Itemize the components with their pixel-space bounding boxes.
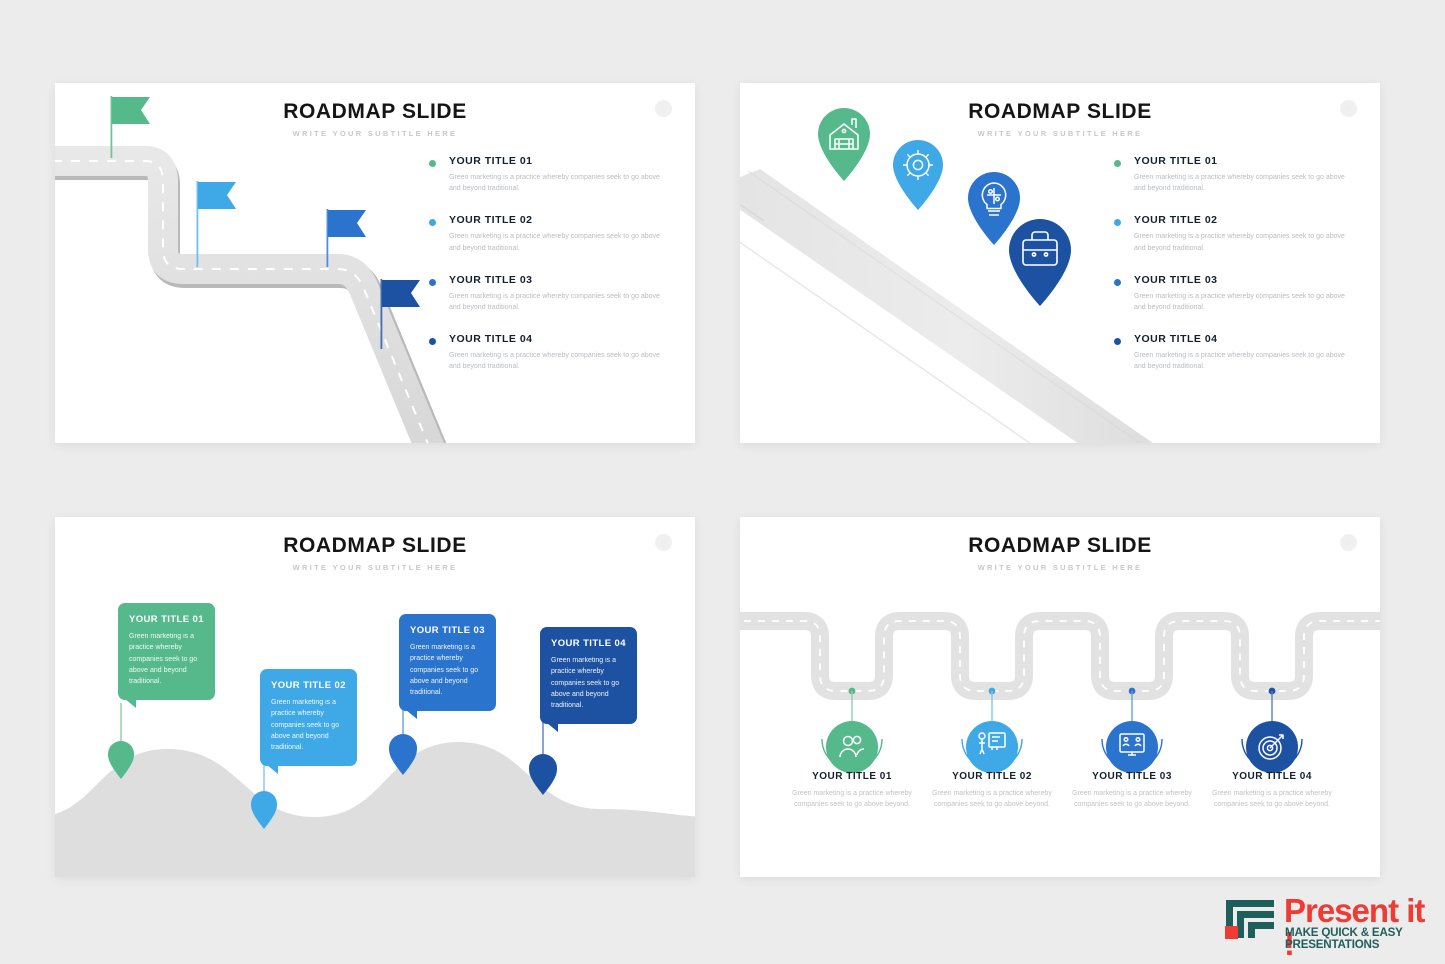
callout-title: YOUR TITLE 02 <box>271 680 346 691</box>
map-pin-2 <box>893 140 943 210</box>
item-body: Green marketing is a practice whereby co… <box>1057 788 1207 810</box>
list-item[interactable]: YOUR TITLE 03 Green marketing is a pract… <box>1112 274 1362 313</box>
callout-card-2[interactable]: YOUR TITLE 02 Green marketing is a pract… <box>260 669 357 766</box>
slide-2-diagonal-road[interactable]: ROADMAP SLIDE WRITE YOUR SUBTITLE HERE ◌ <box>740 83 1380 443</box>
bullet-dot-icon <box>429 160 436 167</box>
poster-canvas: ROADMAP SLIDE WRITE YOUR SUBTITLE HERE ◌ <box>0 0 1445 964</box>
slide-1-stepped-road[interactable]: ROADMAP SLIDE WRITE YOUR SUBTITLE HERE ◌ <box>55 83 695 443</box>
bullet-dot-icon <box>1114 160 1121 167</box>
callout-card-3[interactable]: YOUR TITLE 03 Green marketing is a pract… <box>399 614 496 711</box>
item-title: YOUR TITLE 02 <box>917 771 1067 782</box>
item-title: YOUR TITLE 04 <box>1134 333 1362 345</box>
bullet-dot-icon <box>429 279 436 286</box>
bullet-dot-icon <box>1114 219 1121 226</box>
stacked-bars-logo-icon <box>1222 896 1278 942</box>
connector-2 <box>989 688 996 721</box>
item-body: Green marketing is a practice whereby co… <box>1134 350 1352 372</box>
callout-title: YOUR TITLE 03 <box>410 625 485 636</box>
list-item[interactable]: YOUR TITLE 02 Green marketing is a pract… <box>1112 214 1362 253</box>
item-title: YOUR TITLE 02 <box>1134 214 1362 226</box>
slide-1-item-list: YOUR TITLE 01 Green marketing is a pract… <box>427 155 677 393</box>
callout-card-1[interactable]: YOUR TITLE 01 Green marketing is a pract… <box>118 603 215 700</box>
bullet-dot-icon <box>429 219 436 226</box>
bullet-dot-icon <box>429 338 436 345</box>
step-block-3[interactable]: YOUR TITLE 03 Green marketing is a pract… <box>1057 755 1207 810</box>
item-title: YOUR TITLE 01 <box>449 155 677 167</box>
callout-body: Green marketing is a practice whereby co… <box>271 697 346 754</box>
item-body: Green marketing is a practice whereby co… <box>917 788 1067 810</box>
callout-body: Green marketing is a practice whereby co… <box>410 642 485 699</box>
item-body: Green marketing is a practice whereby co… <box>777 788 927 810</box>
callout-tail <box>406 710 417 719</box>
brand-logo[interactable]: Present it ! MAKE QUICK & EASY PRESENTAT… <box>1222 896 1432 950</box>
step-block-1[interactable]: YOUR TITLE 01 Green marketing is a pract… <box>777 755 927 810</box>
item-title: YOUR TITLE 04 <box>449 333 677 345</box>
connector-4 <box>1269 688 1276 721</box>
callout-title: YOUR TITLE 04 <box>551 638 626 649</box>
item-title: YOUR TITLE 01 <box>777 771 927 782</box>
item-body: Green marketing is a practice whereby co… <box>449 172 667 194</box>
map-pin-4 <box>1009 219 1071 306</box>
bullet-dot-icon <box>1114 279 1121 286</box>
item-body: Green marketing is a practice whereby co… <box>1134 172 1352 194</box>
connector-3 <box>1129 688 1136 721</box>
square-wave-road-graphic <box>740 517 1380 877</box>
item-body: Green marketing is a practice whereby co… <box>1197 788 1347 810</box>
list-item[interactable]: YOUR TITLE 03 Green marketing is a pract… <box>427 274 677 313</box>
step-block-2[interactable]: YOUR TITLE 02 Green marketing is a pract… <box>917 755 1067 810</box>
item-title: YOUR TITLE 03 <box>449 274 677 286</box>
logo-tagline: MAKE QUICK & EASY PRESENTATIONS <box>1285 927 1432 950</box>
item-body: Green marketing is a practice whereby co… <box>449 350 667 372</box>
list-item[interactable]: YOUR TITLE 01 Green marketing is a pract… <box>427 155 677 194</box>
item-title: YOUR TITLE 02 <box>449 214 677 226</box>
list-item[interactable]: YOUR TITLE 04 Green marketing is a pract… <box>427 333 677 372</box>
connector-1 <box>849 688 856 721</box>
item-body: Green marketing is a practice whereby co… <box>449 231 667 253</box>
slide-4-square-road[interactable]: ROADMAP SLIDE WRITE YOUR SUBTITLE HERE ◌ <box>740 517 1380 877</box>
callout-tail <box>125 699 136 708</box>
item-body: Green marketing is a practice whereby co… <box>449 291 667 313</box>
slide-2-item-list: YOUR TITLE 01 Green marketing is a pract… <box>1112 155 1362 393</box>
bullet-dot-icon <box>1114 338 1121 345</box>
item-body: Green marketing is a practice whereby co… <box>1134 291 1352 313</box>
item-title: YOUR TITLE 03 <box>1134 274 1362 286</box>
callout-title: YOUR TITLE 01 <box>129 614 204 625</box>
callout-tail <box>547 723 558 732</box>
item-title: YOUR TITLE 01 <box>1134 155 1362 167</box>
callout-card-4[interactable]: YOUR TITLE 04 Green marketing is a pract… <box>540 627 637 724</box>
map-pin-1 <box>818 108 870 181</box>
item-body: Green marketing is a practice whereby co… <box>1134 231 1352 253</box>
item-title: YOUR TITLE 03 <box>1057 771 1207 782</box>
callout-body: Green marketing is a practice whereby co… <box>551 655 626 712</box>
step-block-4[interactable]: YOUR TITLE 04 Green marketing is a pract… <box>1197 755 1347 810</box>
list-item[interactable]: YOUR TITLE 04 Green marketing is a pract… <box>1112 333 1362 372</box>
slide-3-wavy-road[interactable]: ROADMAP SLIDE WRITE YOUR SUBTITLE HERE ◌ <box>55 517 695 877</box>
item-title: YOUR TITLE 04 <box>1197 771 1347 782</box>
callout-tail <box>267 765 278 774</box>
list-item[interactable]: YOUR TITLE 02 Green marketing is a pract… <box>427 214 677 253</box>
callout-body: Green marketing is a practice whereby co… <box>129 631 204 688</box>
map-pin-3 <box>968 172 1020 245</box>
list-item[interactable]: YOUR TITLE 01 Green marketing is a pract… <box>1112 155 1362 194</box>
